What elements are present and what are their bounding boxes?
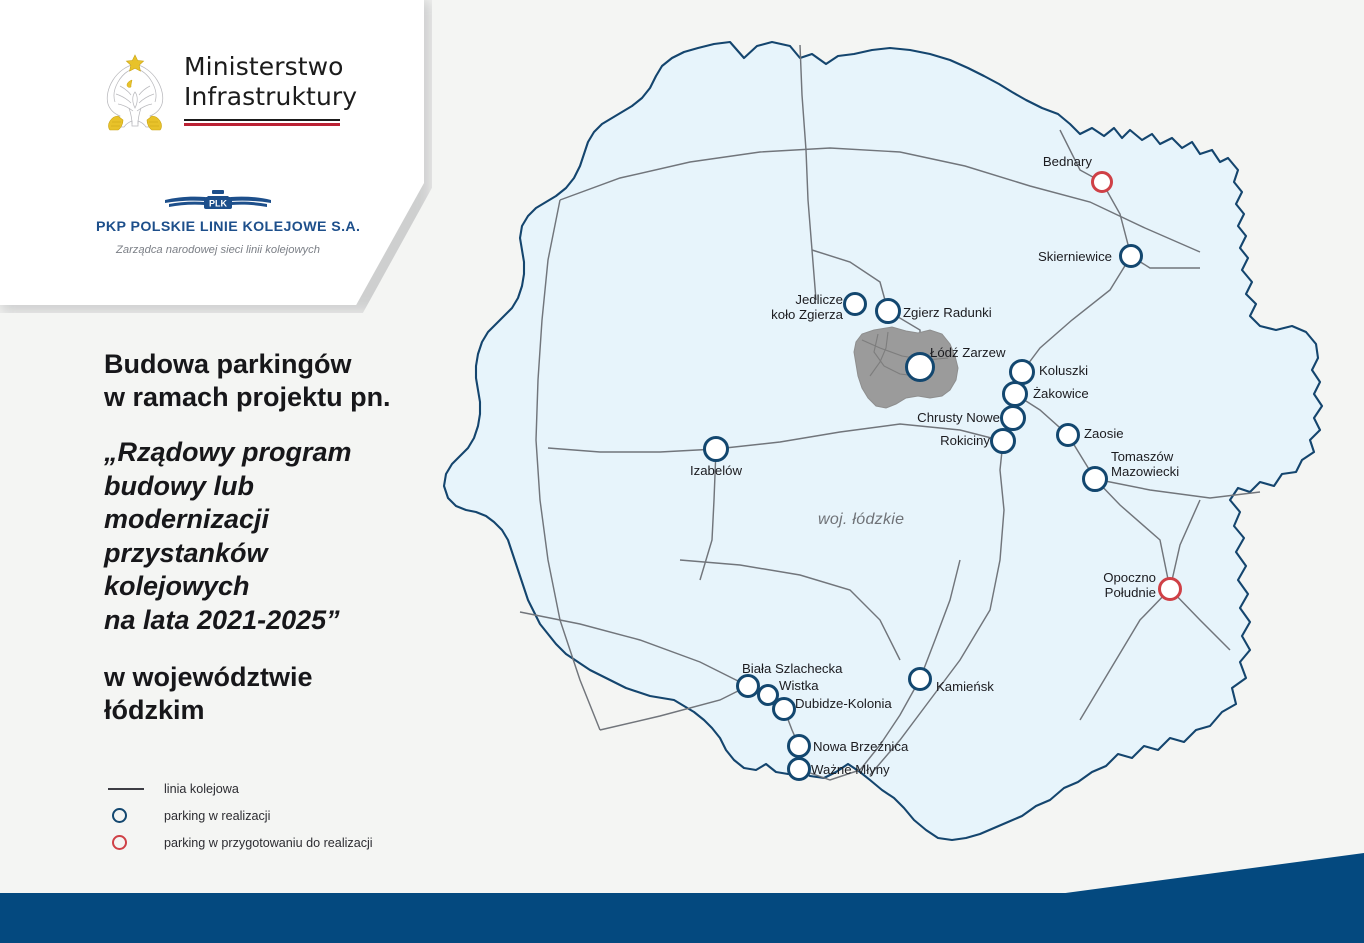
pkp-plk-tagline: Zarządca narodowej sieci linii kolejowyc… — [96, 244, 340, 256]
title-line-2: w ramach projektu pn. — [104, 381, 454, 414]
station-label: Biała Szlachecka — [742, 661, 842, 676]
polish-eagle-emblem-icon — [96, 52, 174, 138]
title-line-4: łódzkim — [104, 694, 454, 727]
title-region: w województwie łódzkim — [104, 661, 454, 727]
title-heading: Budowa parkingów w ramach projektu pn. — [104, 348, 454, 414]
quote-line-4: przystanków — [104, 537, 454, 571]
legend-label: parking w przygotowaniu do realizacji — [164, 836, 373, 850]
quote-line-1: „Rządowy program — [104, 436, 454, 470]
station-label: Zaosie — [1084, 426, 1124, 441]
rule-red — [184, 123, 340, 126]
region-name-label: woj. łódzkie — [818, 512, 904, 527]
station-marker[interactable] — [1082, 466, 1108, 492]
station-marker[interactable] — [905, 352, 935, 382]
legend-item-circle-red: parking w przygotowaniu do realizacji — [106, 829, 373, 856]
station-label: Ważne Młyny — [811, 762, 890, 777]
station-marker[interactable] — [772, 697, 796, 721]
station-label: Nowa Brzeźnica — [813, 739, 908, 754]
station-marker[interactable] — [843, 292, 867, 316]
title-line-1: Budowa parkingów — [104, 348, 454, 381]
station-marker[interactable] — [990, 428, 1016, 454]
pkp-plk-name: PKP POLSKIE LINIE KOLEJOWE S.A. — [96, 219, 340, 235]
station-marker[interactable] — [1158, 577, 1182, 601]
station-label: Koluszki — [1039, 363, 1088, 378]
station-label: Łódź Zarzew — [930, 345, 1006, 360]
ministry-name-line2: Infrastruktury — [184, 82, 357, 112]
quote-line-2: budowy lub — [104, 470, 454, 504]
station-marker[interactable] — [787, 757, 811, 781]
legend-symbol-circle-red — [106, 835, 154, 850]
programme-quote: „Rządowy program budowy lub modernizacji… — [104, 436, 454, 637]
station-label: TomaszówMazowiecki — [1111, 449, 1179, 479]
poster-title-block: Budowa parkingów w ramach projektu pn. „… — [104, 348, 454, 727]
ministry-name-line1: Ministerstwo — [184, 52, 357, 82]
station-marker[interactable] — [908, 667, 932, 691]
station-label: Żakowice — [1033, 386, 1089, 401]
legend-label: parking w realizacji — [164, 809, 270, 823]
station-label: Izabelów — [616, 463, 816, 478]
svg-text:PLK: PLK — [209, 199, 228, 209]
circle-blue-icon — [112, 808, 127, 823]
pkp-plk-logo: PLK PKP POLSKIE LINIE KOLEJOWE S.A. Zarz… — [96, 188, 340, 256]
legend-symbol-rail-line — [106, 788, 154, 790]
rule-black — [184, 119, 340, 121]
legend-item-rail-line: linia kolejowa — [106, 775, 373, 802]
station-marker[interactable] — [1119, 244, 1143, 268]
quote-line-3: modernizacji — [104, 503, 454, 537]
station-marker[interactable] — [1091, 171, 1113, 193]
quote-line-5: kolejowych — [104, 570, 454, 604]
station-label: Wistka — [779, 678, 819, 693]
quote-line-6: na lata 2021-2025” — [104, 604, 454, 638]
map-legend: linia kolejowaparking w realizacjiparkin… — [106, 775, 373, 856]
station-label: Zgierz Radunki — [903, 305, 992, 320]
station-label: Dubidze-Kolonia — [795, 696, 892, 711]
logo-card: Ministerstwo Infrastruktury — [0, 0, 424, 305]
rail-line-icon — [108, 788, 144, 790]
circle-red-icon — [112, 835, 127, 850]
legend-symbol-circle-blue — [106, 808, 154, 823]
ministry-logo: Ministerstwo Infrastruktury — [96, 52, 357, 138]
station-marker[interactable] — [703, 436, 729, 462]
station-marker[interactable] — [787, 734, 811, 758]
bottom-banner — [0, 893, 1364, 943]
ministry-rules — [184, 119, 340, 126]
legend-label: linia kolejowa — [164, 782, 239, 796]
station-marker[interactable] — [1002, 381, 1028, 407]
station-marker[interactable] — [1056, 423, 1080, 447]
title-line-3: w województwie — [104, 661, 454, 694]
plk-winged-emblem-icon: PLK — [163, 188, 273, 216]
station-label: Kamieńsk — [936, 679, 994, 694]
legend-item-circle-blue: parking w realizacji — [106, 802, 373, 829]
station-marker[interactable] — [875, 298, 901, 324]
